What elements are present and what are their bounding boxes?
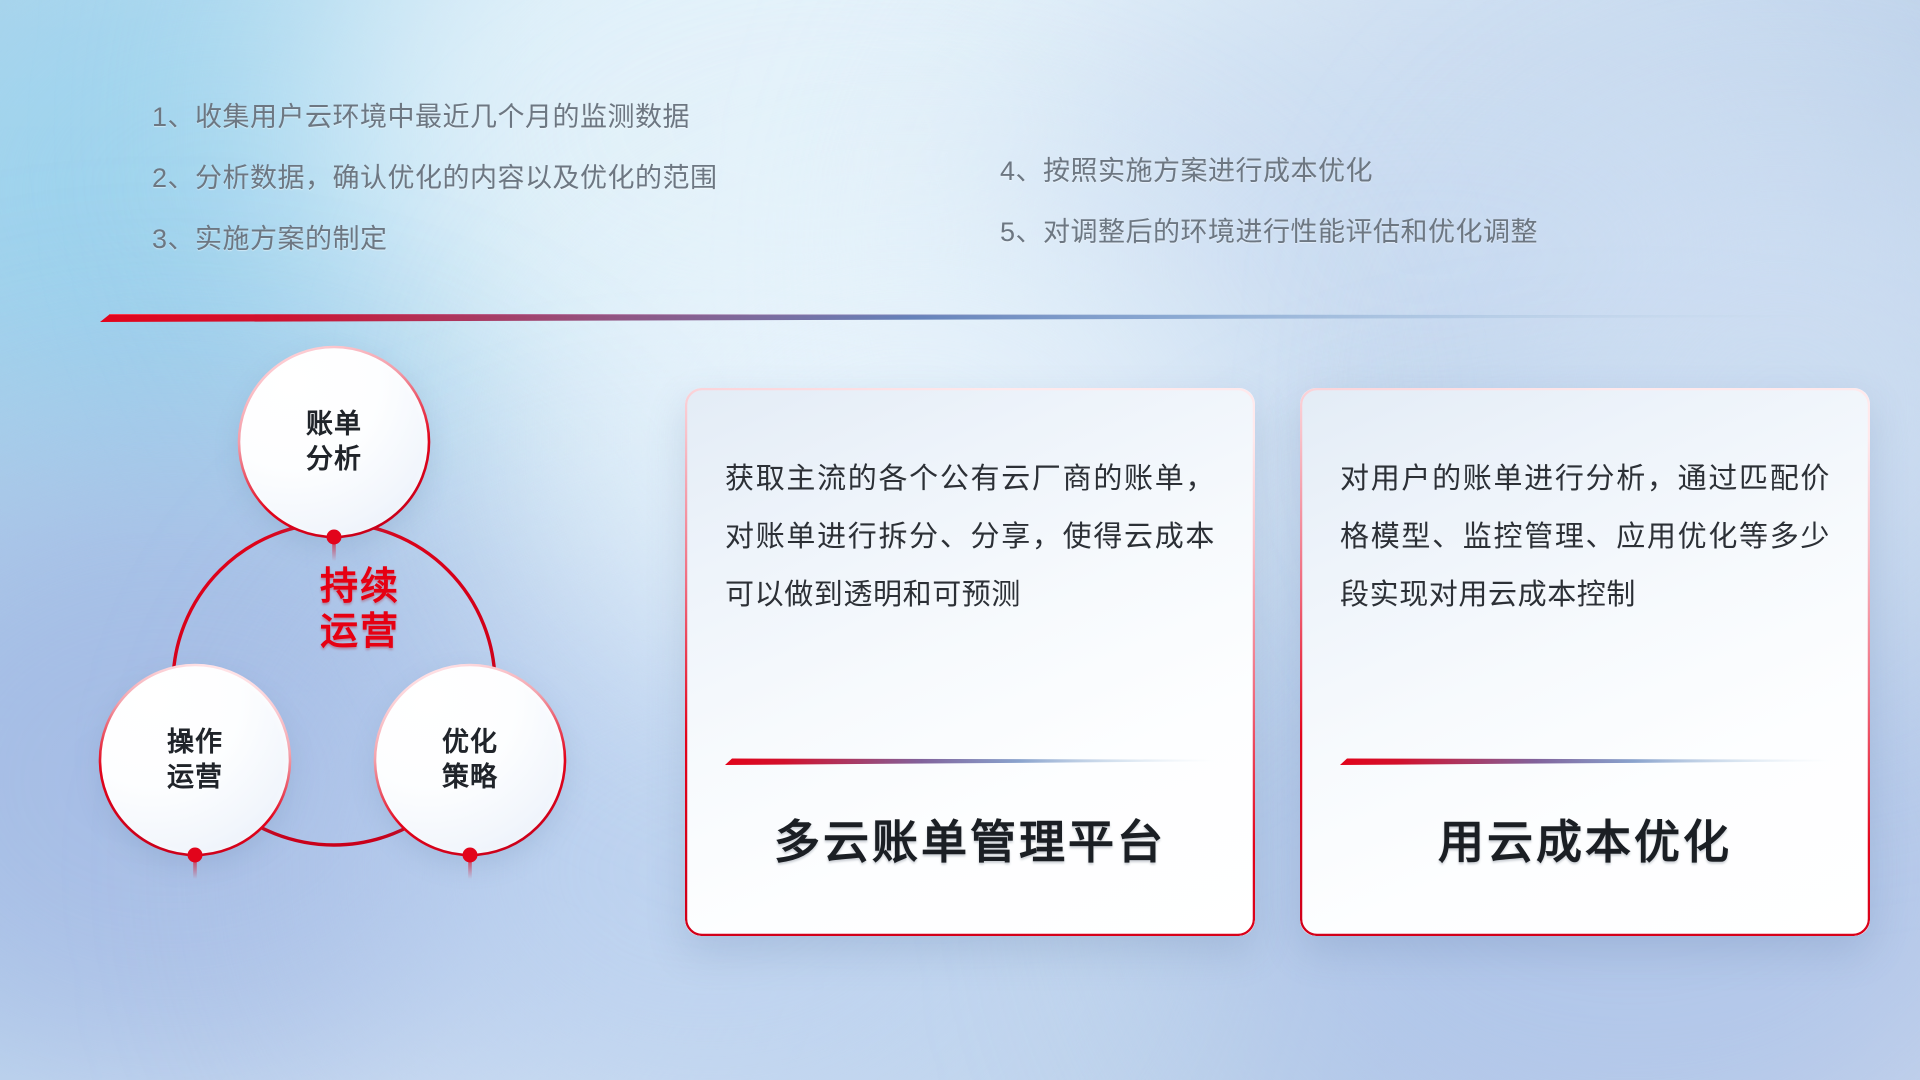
step-item-2: 2、分析数据，确认优化的内容以及优化的范围 xyxy=(152,165,718,192)
venn-center-label: 持续 运营 xyxy=(275,565,445,655)
venn-left-line2: 运营 xyxy=(167,760,223,795)
venn-circle-left-label: 操作 运营 xyxy=(167,725,223,794)
venn-center-line1: 持续 xyxy=(275,565,445,610)
venn-right-line1: 优化 xyxy=(442,725,498,760)
venn-top-line2: 分析 xyxy=(306,442,362,477)
venn-center-line2: 运营 xyxy=(275,610,445,655)
steps-right-column: 4、按照实施方案进行成本优化 5、对调整后的环境进行性能评估和优化调整 xyxy=(1000,158,1538,280)
card-2-accent-rule xyxy=(1340,756,1830,766)
venn-left-line1: 操作 xyxy=(167,725,223,760)
card-1-accent-rule xyxy=(725,756,1215,766)
venn-circle-right-label: 优化 策略 xyxy=(442,725,498,794)
venn-circle-bill-analysis[interactable]: 账单 分析 xyxy=(239,347,429,537)
step-item-3: 3、实施方案的制定 xyxy=(152,226,718,253)
venn-circle-top-label: 账单 分析 xyxy=(306,407,362,476)
steps-left-column: 1、收集用户云环境中最近几个月的监测数据 2、分析数据，确认优化的内容以及优化的… xyxy=(152,104,718,287)
venn-right-line2: 策略 xyxy=(442,760,498,795)
card-1-title: 多云账单管理平台 xyxy=(685,806,1255,872)
card-1-body: 获取主流的各个公有云厂商的账单，对账单进行拆分、分享，使得云成本可以做到透明和可… xyxy=(725,450,1215,624)
step-item-1: 1、收集用户云环境中最近几个月的监测数据 xyxy=(152,104,718,131)
venn-circle-operations[interactable]: 操作 运营 xyxy=(100,665,290,855)
card-2-title: 用云成本优化 xyxy=(1300,806,1870,872)
venn-top-line1: 账单 xyxy=(306,407,362,442)
card-2-body: 对用户的账单进行分析，通过匹配价格模型、监控管理、应用优化等多少段实现对用云成本… xyxy=(1340,450,1830,624)
feature-card-cloud-cost-optimization[interactable]: 对用户的账单进行分析，通过匹配价格模型、监控管理、应用优化等多少段实现对用云成本… xyxy=(1300,388,1870,936)
section-divider xyxy=(100,308,1860,324)
venn-diagram: 账单 分析 操作 运营 优化 策略 xyxy=(95,345,655,955)
venn-circle-optimization-strategy[interactable]: 优化 策略 xyxy=(375,665,565,855)
step-item-5: 5、对调整后的环境进行性能评估和优化调整 xyxy=(1000,219,1538,246)
step-item-4: 4、按照实施方案进行成本优化 xyxy=(1000,158,1538,185)
feature-card-multicloud-billing[interactable]: 获取主流的各个公有云厂商的账单，对账单进行拆分、分享，使得云成本可以做到透明和可… xyxy=(685,388,1255,936)
